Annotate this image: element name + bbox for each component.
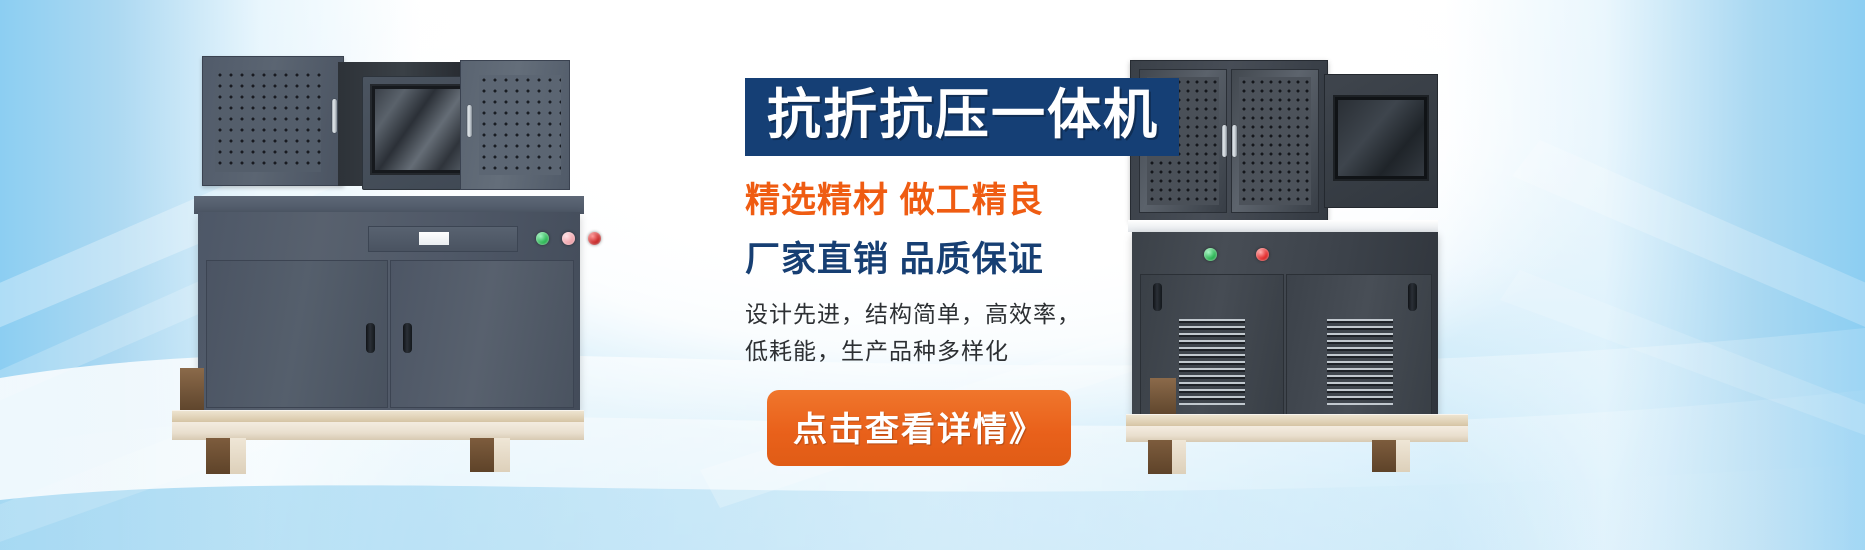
promo-headline-orange: 精选精材 做工精良	[745, 172, 1305, 223]
left-machine-pallet-rear-leg	[180, 368, 204, 416]
view-details-button[interactable]: 点击查看详情》	[767, 390, 1071, 466]
left-machine-drawer-label	[419, 232, 449, 245]
right-machine-pallet-leg-right	[1372, 440, 1398, 472]
right-machine-monitor-housing	[1324, 74, 1438, 208]
left-upper-right-door-handle	[467, 105, 472, 137]
right-machine-pallet-leg-right-face	[1396, 440, 1410, 472]
promo-banner: 抗折抗压一体机 精选精材 做工精良 厂家直销 品质保证 设计先进，结构简单，高效…	[0, 0, 1865, 550]
promo-description: 设计先进，结构简单，高效率， 低耗能，生产品种多样化	[745, 296, 1305, 370]
right-machine-monitor-screen	[1338, 100, 1424, 176]
promo-copy-block: 抗折抗压一体机 精选精材 做工精良 厂家直销 品质保证 设计先进，结构简单，高效…	[745, 78, 1305, 466]
left-machine-door-1-handle	[366, 323, 375, 353]
left-machine-pallet-leg-right	[470, 438, 496, 472]
left-machine-pallet-leg-left-face	[230, 438, 246, 474]
promo-title-banner: 抗折抗压一体机	[745, 78, 1179, 156]
product-image-left-machine	[170, 48, 590, 438]
right-machine-door-2-handle	[1408, 283, 1417, 311]
left-upper-left-door-handle	[332, 99, 337, 133]
left-machine-lower-door-2	[390, 260, 574, 408]
left-machine-upper-right-cabinet	[460, 60, 570, 190]
left-upper-left-perforation	[215, 70, 321, 172]
promo-description-line-2: 低耗能，生产品种多样化	[745, 333, 1305, 370]
left-machine-body	[198, 212, 580, 412]
right-machine-louver-vent-2	[1327, 319, 1393, 405]
promo-description-line-1: 设计先进，结构简单，高效率，	[745, 296, 1305, 333]
left-machine-control-drawer	[368, 226, 518, 252]
left-upper-right-perforation	[479, 75, 561, 175]
right-machine-monitor-bezel	[1333, 95, 1429, 181]
left-machine-led-pink[interactable]	[562, 232, 575, 245]
left-machine-upper-left-cabinet	[202, 56, 344, 186]
left-machine-pallet-leg-right-face	[494, 438, 510, 472]
left-machine-door-2-handle	[403, 323, 412, 353]
left-machine-led-green[interactable]	[536, 232, 549, 245]
right-machine-lower-door-2	[1286, 274, 1432, 416]
left-machine-lower-door-1	[206, 260, 388, 408]
left-machine-pallet-leg-left	[206, 438, 232, 474]
promo-headline-blue: 厂家直销 品质保证	[745, 231, 1305, 282]
left-machine-led-red[interactable]	[588, 232, 601, 245]
